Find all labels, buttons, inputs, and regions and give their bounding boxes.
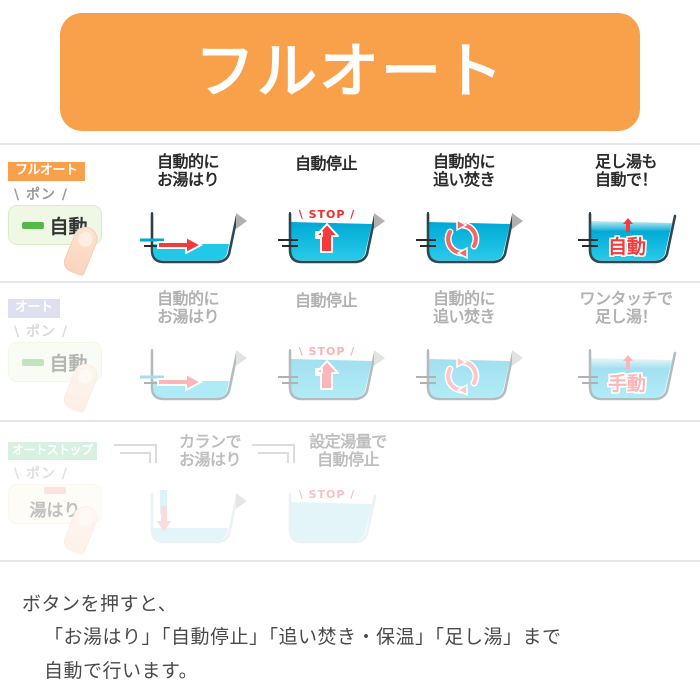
- divider-row1-row2: [0, 281, 700, 283]
- row-auto: オート \ ポン / 自動 自動的に お湯はり: [0, 292, 700, 412]
- bathtub-full-plus: 手動: [576, 347, 678, 405]
- step-full-auto-refill: 足し湯も 自動で！: [562, 155, 690, 270]
- faucet-icon: [250, 439, 320, 473]
- step-caption: 自動的に 追い焚き: [400, 290, 528, 327]
- circular-arrows-icon: [440, 355, 484, 397]
- badge-auto-stop: オートストップ: [8, 442, 97, 460]
- caption-line-2: お湯はり: [124, 171, 252, 189]
- bathtub-full-plus: 自動: [576, 210, 678, 268]
- divider-row2-row3: [0, 420, 700, 422]
- down-arrow-icon: [156, 506, 172, 534]
- caption-line-1: 足し湯も: [562, 153, 690, 171]
- step-full-auto-reheat: 自動的に 追い焚き: [400, 155, 528, 270]
- page-title: フルオート: [195, 42, 505, 102]
- step-auto-fill: 自動的に お湯はり: [124, 292, 252, 407]
- step-caption: 自動的に 追い焚き: [400, 153, 528, 190]
- badge-auto: オート: [8, 299, 60, 318]
- right-arrow-icon: [156, 236, 204, 254]
- control-full-auto[interactable]: フルオート \ ポン / 自動: [8, 159, 120, 269]
- step-caption: 自動停止: [262, 155, 390, 173]
- caption-line-2: 足し湯！: [562, 308, 690, 326]
- step-separator-icon: [512, 350, 523, 366]
- press-text-full-auto: \ ポン /: [14, 184, 120, 204]
- stop-label: \ STOP /: [276, 208, 378, 221]
- up-arrow-small-icon: [622, 218, 634, 232]
- indicator-dash-icon: [22, 359, 44, 366]
- button-auto[interactable]: 自動: [8, 342, 102, 382]
- up-arrow-icon: [314, 359, 342, 393]
- step-caption: 自動的に お湯はり: [124, 290, 252, 327]
- caption-line-2: お湯はり: [124, 308, 252, 326]
- faucet-icon: [112, 439, 182, 473]
- caption-line-1: 自動的に: [124, 153, 252, 171]
- row-auto-stop: オートストップ \ ポン / 湯はり カランで お湯はり: [0, 435, 700, 555]
- caption-line-1: 自動的に: [400, 153, 528, 171]
- step-caption: 足し湯も 自動で！: [562, 153, 690, 190]
- bathtub-low: [138, 210, 240, 268]
- step-caption: 自動的に お湯はり: [124, 153, 252, 190]
- right-arrow-icon: [156, 373, 204, 391]
- step-auto-reheat: 自動的に 追い焚き: [400, 292, 528, 407]
- bathtub-low: [138, 490, 240, 548]
- caption-line-1: ワンタッチで: [562, 290, 690, 308]
- caption-line-2: 追い焚き: [400, 308, 528, 326]
- caption-line-2: 追い焚き: [400, 171, 528, 189]
- control-auto-stop[interactable]: オートストップ \ ポン / 湯はり: [8, 439, 120, 549]
- footer-description: ボタンを押すと、 「お湯はり」「自動停止」「追い焚き・保温」「足し湯」まで 自動…: [22, 588, 682, 688]
- circular-arrows-icon: [440, 218, 484, 260]
- stop-label: \ STOP /: [276, 488, 378, 501]
- step-separator-icon: [512, 213, 523, 229]
- bathtub-low: [138, 347, 240, 405]
- footer-line-1: ボタンを押すと、: [22, 593, 177, 615]
- step-caption: 自動停止: [262, 292, 390, 310]
- step-caption: ワンタッチで 足し湯！: [562, 290, 690, 327]
- step-separator-icon: [236, 493, 247, 509]
- header-banner-box: フルオート: [60, 13, 640, 131]
- step-full-auto-stop: 自動停止 \ STOP /: [262, 155, 390, 270]
- control-auto[interactable]: オート \ ポン / 自動: [8, 296, 120, 406]
- indicator-dash-icon: [22, 222, 44, 229]
- header-banner: フルオート: [0, 8, 700, 136]
- caption-line-2: 自動で！: [562, 171, 690, 189]
- button-yuhari[interactable]: 湯はり: [8, 484, 102, 524]
- caption-line-1: 自動停止: [262, 292, 390, 310]
- inner-label: 手動: [576, 369, 678, 396]
- step-auto-stop-faucet-fill: カランで お湯はり: [124, 435, 252, 550]
- badge-full-auto: フルオート: [8, 162, 85, 181]
- indicator-dash-icon: [44, 487, 66, 494]
- stop-label: \ STOP /: [276, 345, 378, 358]
- caption-line-1: 自動停止: [262, 155, 390, 173]
- footer-line-2: 「お湯はり」「自動停止」「追い焚き・保温」「足し湯」まで: [22, 621, 682, 654]
- divider-top: [0, 143, 700, 145]
- step-separator-icon: [374, 213, 385, 229]
- step-auto-stop-stop: 設定湯量で 自動停止 \ STOP /: [262, 435, 390, 550]
- press-text-auto-stop: \ ポン /: [14, 463, 120, 483]
- up-arrow-icon: [314, 222, 342, 256]
- divider-bottom: [0, 560, 700, 562]
- step-auto-refill: ワンタッチで 足し湯！ 手動: [562, 292, 690, 407]
- step-separator-icon: [236, 350, 247, 366]
- caption-line-1: 自動的に: [400, 290, 528, 308]
- inner-label: 自動: [576, 232, 678, 259]
- press-text-auto: \ ポン /: [14, 321, 120, 341]
- footer-line-3: 自動で行います。: [22, 655, 682, 688]
- button-auto-full[interactable]: 自動: [8, 205, 102, 245]
- infographic-page: フルオート フルオート \ ポン / 自動 自動的に お湯はり: [0, 0, 700, 700]
- up-arrow-small-icon: [622, 355, 634, 369]
- bathtub-full: [414, 210, 516, 268]
- step-separator-icon: [236, 213, 247, 229]
- step-full-auto-fill: 自動的に お湯はり: [124, 155, 252, 270]
- caption-line-1: 自動的に: [124, 290, 252, 308]
- bathtub-full: \ STOP /: [276, 210, 378, 268]
- row-full-auto: フルオート \ ポン / 自動 自動的に お湯はり: [0, 155, 700, 275]
- bathtub-full: \ STOP /: [276, 490, 378, 548]
- bathtub-full: [414, 347, 516, 405]
- bathtub-full: \ STOP /: [276, 347, 378, 405]
- step-separator-icon: [374, 350, 385, 366]
- step-auto-stop: 自動停止 \ STOP /: [262, 292, 390, 407]
